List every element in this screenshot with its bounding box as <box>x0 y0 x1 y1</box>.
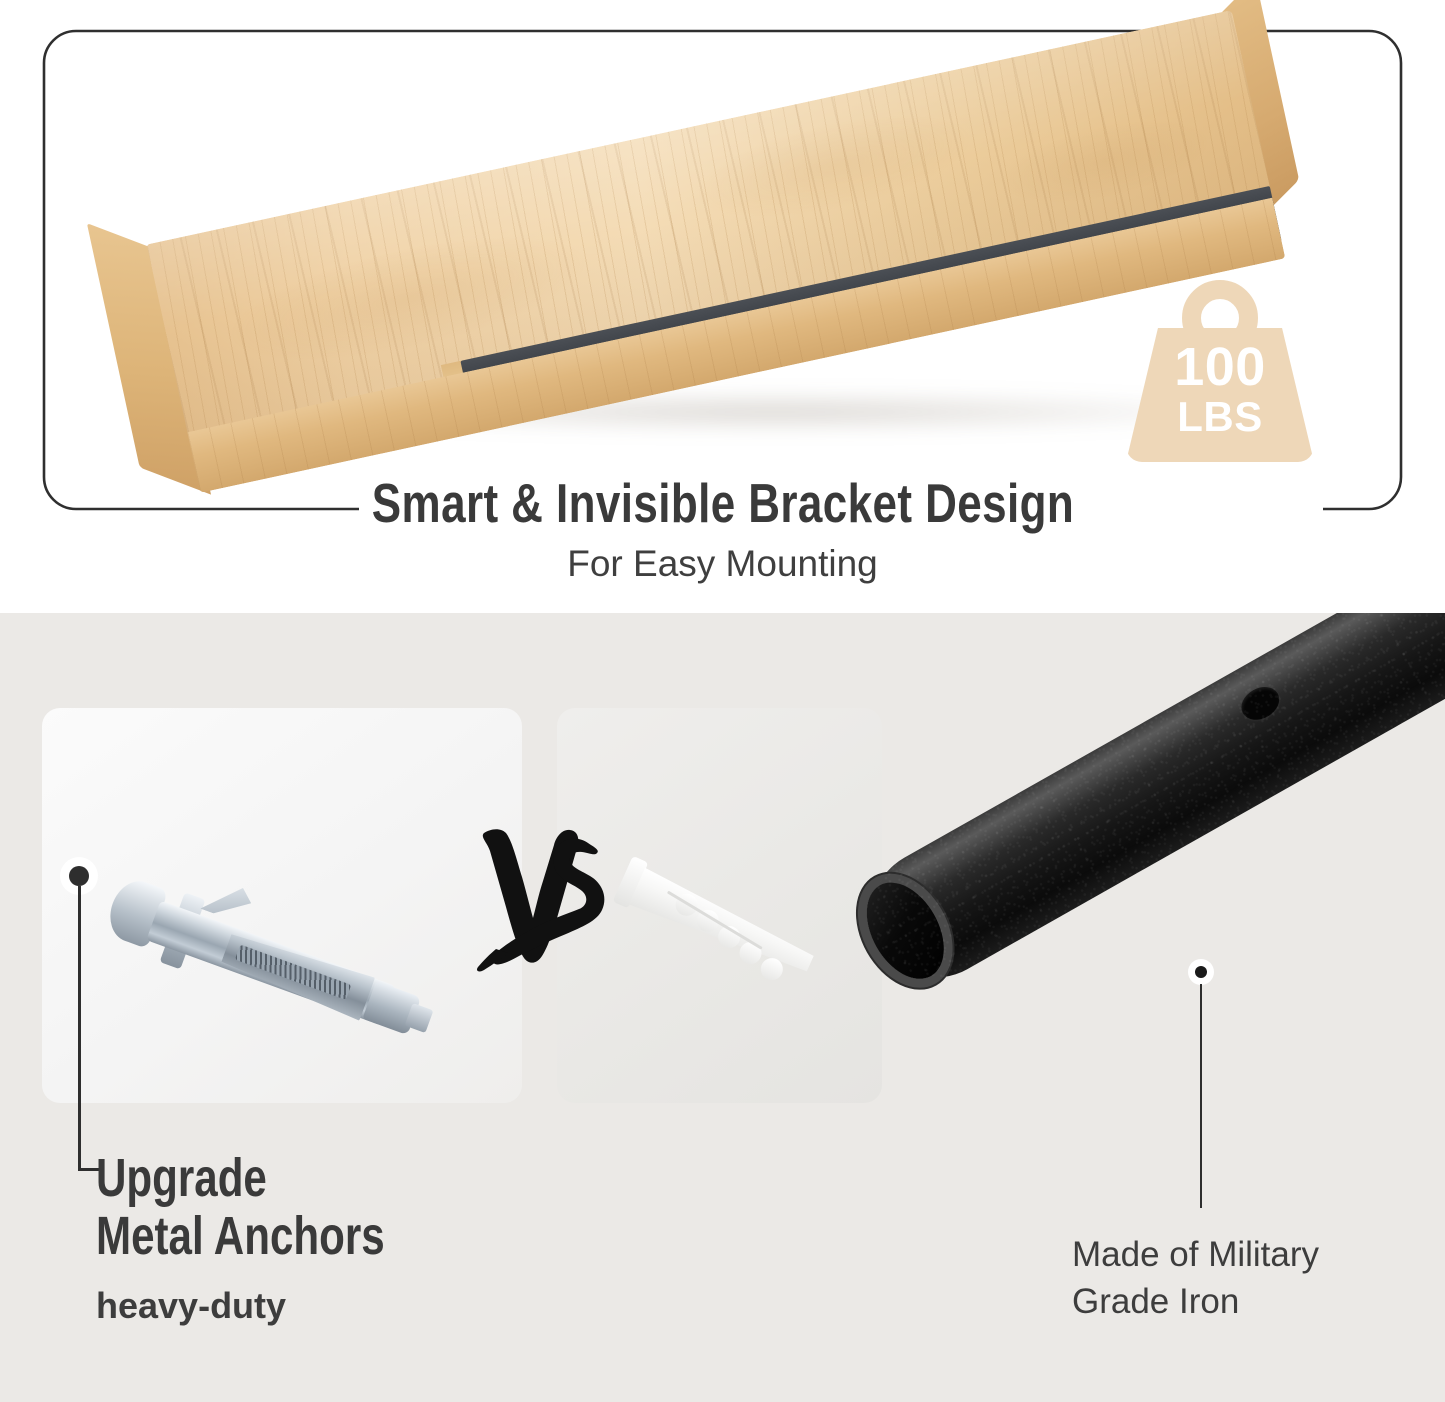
iron-pipe-caption: Made of Military Grade Iron <box>1072 1232 1445 1325</box>
headline-block: Smart & Invisible Bracket Design <box>0 476 1445 531</box>
metal-anchor-caption: Upgrade Metal Anchors heavy-duty <box>96 1149 656 1324</box>
product-infographic: 100 LBS Smart & Invisible Bracket Design… <box>0 0 1445 1402</box>
iron-caption-line-2: Grade Iron <box>1072 1279 1445 1326</box>
metal-anchor-marker-dot <box>69 866 89 886</box>
metal-caption-line-1: Upgrade <box>96 1149 533 1207</box>
weight-unit: LBS <box>1122 396 1318 438</box>
bracket-design-panel: 100 LBS Smart & Invisible Bracket Design… <box>0 0 1445 613</box>
metal-caption-subtext: heavy-duty <box>96 1288 656 1324</box>
page-subtitle: For Easy Mounting <box>0 545 1445 582</box>
page-title: Smart & Invisible Bracket Design <box>358 476 1086 531</box>
weight-capacity-badge: 100 LBS <box>1122 280 1318 462</box>
metal-caption-line-2: Metal Anchors <box>96 1207 533 1265</box>
iron-pipe-leader-line <box>1200 984 1202 1208</box>
pipe-open-end <box>851 869 960 992</box>
iron-pipe-marker-ring <box>1195 966 1207 978</box>
pipe-mounting-hole <box>1236 680 1286 726</box>
iron-pipe <box>848 613 1445 1001</box>
vs-icon <box>466 815 616 975</box>
weight-badge-text: 100 LBS <box>1122 340 1318 438</box>
weight-number: 100 <box>1122 340 1318 394</box>
iron-caption-line-1: Made of Military <box>1072 1232 1445 1279</box>
metal-anchor-leader-line-vertical <box>78 886 81 1171</box>
